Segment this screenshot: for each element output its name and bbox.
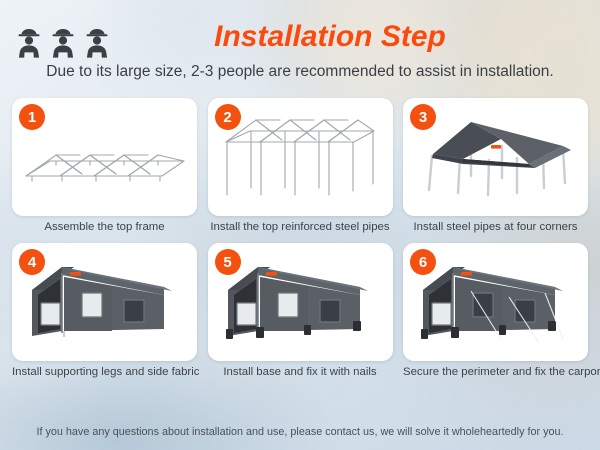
- step-number-badge: 4: [19, 249, 45, 275]
- footer-note: If you have any questions about installa…: [0, 425, 600, 439]
- step-caption: Assemble the top frame: [12, 220, 197, 234]
- step-caption: Install steel pipes at four corners: [403, 220, 588, 234]
- steps-grid: 1: [0, 98, 600, 379]
- step-number-badge: 2: [215, 104, 241, 130]
- step-card-4: 4: [12, 243, 197, 379]
- step-caption: Install base and fix it with nails: [208, 365, 393, 379]
- steps-row-2: 4: [0, 243, 600, 379]
- step-number-badge: 5: [215, 249, 241, 275]
- step-caption: Secure the perimeter and fix the carport: [403, 365, 588, 379]
- step-caption: Install supporting legs and side fabric: [12, 365, 197, 379]
- page-subtitle: Due to its large size, 2-3 people are re…: [0, 62, 600, 82]
- step-caption: Install the top reinforced steel pipes: [208, 220, 393, 234]
- step-card-6: 6: [403, 243, 588, 379]
- step-card-1: 1: [12, 98, 197, 234]
- page-title: Installation Step: [0, 20, 600, 54]
- step-image-card: 4: [12, 243, 197, 361]
- step-number-badge: 1: [19, 104, 45, 130]
- step-image-card: 2: [208, 98, 393, 216]
- step-card-2: 2: [208, 98, 393, 234]
- step-card-3: 3: [403, 98, 588, 234]
- step-image-card: 1: [12, 98, 197, 216]
- step-image-card: 3: [403, 98, 588, 216]
- step-number-badge: 6: [410, 249, 436, 275]
- page-header: Installation Step Due to its large size,…: [0, 0, 600, 92]
- step-image-card: 6: [403, 243, 588, 361]
- step-number-badge: 3: [410, 104, 436, 130]
- installation-guide-page: Installation Step Due to its large size,…: [0, 0, 600, 450]
- steps-row-1: 1: [0, 98, 600, 234]
- step-card-5: 5: [208, 243, 393, 379]
- step-image-card: 5: [208, 243, 393, 361]
